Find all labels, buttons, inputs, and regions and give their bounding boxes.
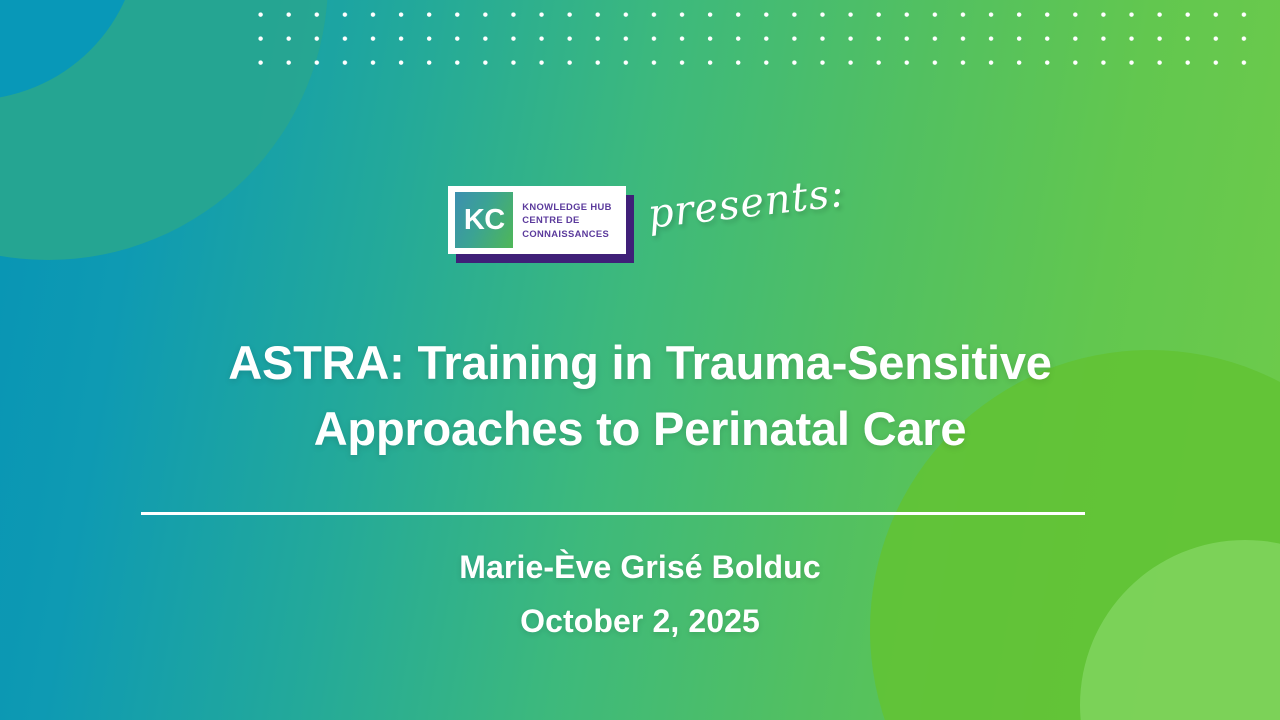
slide-title-line-1: ASTRA: Training in Trauma-Sensitive xyxy=(190,330,1090,396)
logo-wordmark-line-3: CONNAISSANCES xyxy=(522,227,611,240)
presenter-name: Marie-Ève Grisé Bolduc xyxy=(190,540,1090,594)
logo-wordmark-line-2: CENTRE DE xyxy=(522,213,611,226)
presents-script-label: presents: xyxy=(646,170,847,238)
kc-badge-icon: KC xyxy=(455,192,513,248)
kc-badge-text: KC xyxy=(464,206,505,235)
logo-wordmark-line-1: KNOWLEDGE HUB xyxy=(522,200,611,213)
slide-title-line-2: Approaches to Perinatal Care xyxy=(190,396,1090,462)
dot-grid-pattern xyxy=(258,12,1266,74)
logo-card: KC KNOWLEDGE HUB CENTRE DE CONNAISSANCES xyxy=(448,186,626,254)
presenter-block: Marie-Ève Grisé Bolduc October 2, 2025 xyxy=(190,540,1090,649)
presentation-date: October 2, 2025 xyxy=(190,594,1090,648)
decorative-circle-top-left-inner xyxy=(0,0,140,100)
logo-row: KC KNOWLEDGE HUB CENTRE DE CONNAISSANCES… xyxy=(0,186,1280,254)
divider-rule xyxy=(141,512,1085,515)
decorative-circle-bottom-right-inner xyxy=(1080,540,1280,720)
title-slide: KC KNOWLEDGE HUB CENTRE DE CONNAISSANCES… xyxy=(0,0,1280,720)
slide-title: ASTRA: Training in Trauma-Sensitive Appr… xyxy=(190,330,1090,462)
knowledge-hub-logo: KC KNOWLEDGE HUB CENTRE DE CONNAISSANCES xyxy=(448,186,626,254)
logo-wordmark: KNOWLEDGE HUB CENTRE DE CONNAISSANCES xyxy=(522,200,611,240)
